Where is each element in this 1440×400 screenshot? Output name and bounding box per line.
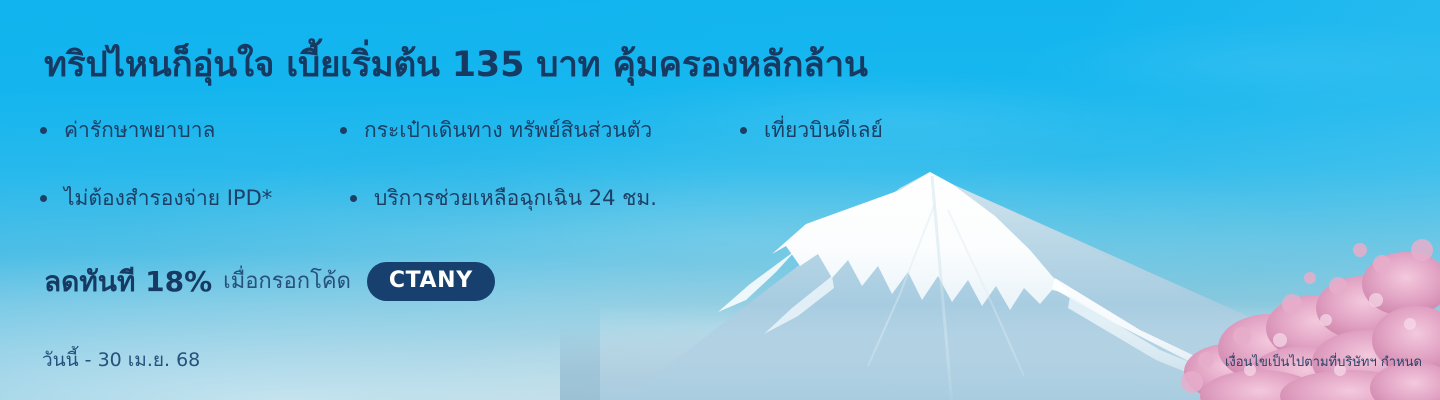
list-item: บริการช่วยเหลือฉุกเฉิน 24 ชม.	[350, 188, 657, 209]
page-title: ทริปไหนก็อุ่นใจ เบี้ยเริ่มต้น 135 บาท คุ…	[44, 37, 868, 92]
promo-line: ลดทันที 18% เมื่อกรอกโค้ด CTANY	[44, 262, 495, 301]
list-item: ไม่ต้องสำรองจ่าย IPD*	[40, 188, 350, 209]
promo-code-prefix: เมื่อกรอกโค้ด	[223, 271, 351, 293]
benefit-label: กระเป๋าเดินทาง ทรัพย์สินส่วนตัว	[364, 120, 652, 141]
bullet-dot-icon	[350, 195, 357, 202]
bullet-dot-icon	[40, 195, 47, 202]
benefit-label: ไม่ต้องสำรองจ่าย IPD*	[64, 188, 272, 209]
list-item: เที่ยวบินดีเลย์	[740, 120, 883, 141]
benefit-label: บริการช่วยเหลือฉุกเฉิน 24 ชม.	[374, 188, 657, 209]
travel-insurance-promo-banner: ทริปไหนก็อุ่นใจ เบี้ยเริ่มต้น 135 บาท คุ…	[0, 0, 1440, 400]
discount-text: ลดทันที 18%	[44, 268, 212, 296]
validity-period: วันนี้ - 30 เม.ย. 68	[42, 345, 200, 375]
benefit-label: ค่ารักษาพยาบาล	[64, 120, 215, 141]
list-item: กระเป๋าเดินทาง ทรัพย์สินส่วนตัว	[340, 120, 740, 141]
bullet-dot-icon	[740, 127, 747, 134]
benefit-row-2: ไม่ต้องสำรองจ่าย IPD* บริการช่วยเหลือฉุก…	[40, 188, 657, 209]
benefit-label: เที่ยวบินดีเลย์	[764, 120, 883, 141]
bullet-dot-icon	[340, 127, 347, 134]
bullet-dot-icon	[40, 127, 47, 134]
benefit-row-1: ค่ารักษาพยาบาล กระเป๋าเดินทาง ทรัพย์สินส…	[40, 120, 883, 141]
list-item: ค่ารักษาพยาบาล	[40, 120, 340, 141]
terms-disclaimer: เงื่อนไขเป็นไปตามที่บริษัทฯ กำหนด	[1225, 351, 1422, 372]
promo-code-badge[interactable]: CTANY	[367, 262, 495, 301]
